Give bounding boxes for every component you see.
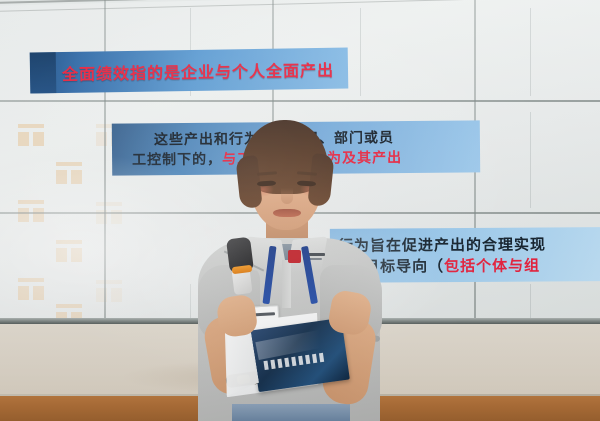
nose (281, 188, 293, 204)
screen-watermark (14, 196, 48, 226)
panel-pixel-column (360, 8, 361, 96)
jeans (232, 404, 350, 421)
panel-pixel-column (530, 284, 531, 318)
shirt-logo-mark-icon (288, 250, 301, 263)
mouth (273, 209, 301, 217)
panel-seam-horizontal (0, 100, 600, 102)
screen-watermark (52, 158, 86, 188)
slide-text-band-1: 全面绩效指的是企业与个人全面产出 (30, 48, 349, 94)
screen-watermark (92, 276, 126, 306)
shirt-placket (282, 260, 291, 308)
presentation-photograph: 全面绩效指的是企业与个人全面产出 这些产出和行为是在组织、部门或员 工控制下的，… (0, 0, 600, 421)
presenter (180, 120, 410, 421)
panel-pixel-column (530, 112, 531, 208)
hair-side-right (307, 153, 334, 207)
badge-logo-text (255, 312, 275, 316)
screen-watermark (14, 120, 48, 150)
panel-seam-vertical (104, 0, 106, 324)
screen-watermark (52, 236, 86, 266)
screen-watermark (14, 274, 48, 304)
panel-pixel-column (530, 8, 531, 96)
slide-band-1-text: 全面绩效指的是企业与个人全面产出 (62, 56, 334, 84)
slide-band-3-line2-red: 包括个体与组 (444, 257, 540, 276)
booklet-sheen (255, 326, 341, 360)
